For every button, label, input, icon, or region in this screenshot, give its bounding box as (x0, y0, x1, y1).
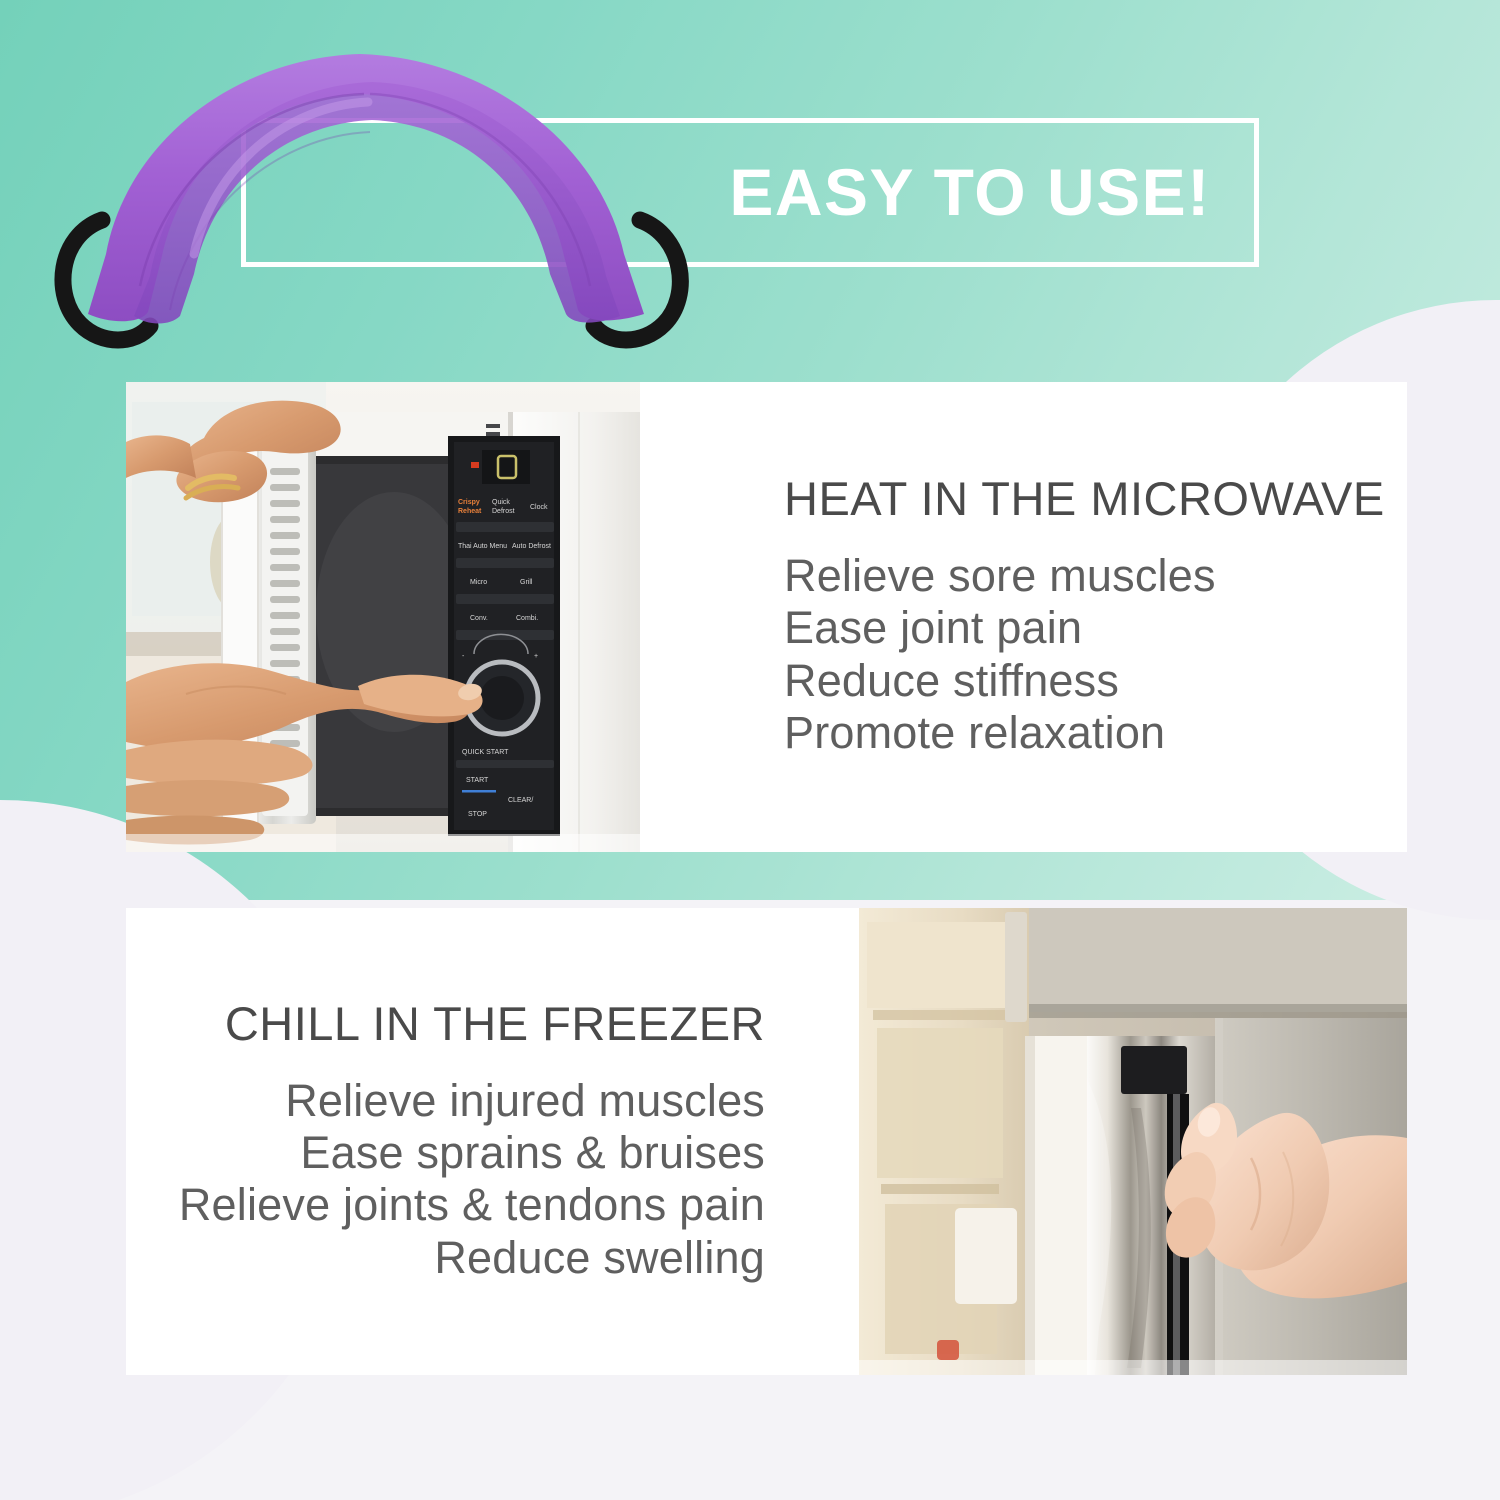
svg-text:Quick: Quick (492, 499, 510, 506)
bullet-item: Relieve sore muscles (784, 551, 1216, 601)
bullet-item: Promote relaxation (784, 708, 1216, 758)
bullet-item: Ease sprains & bruises (179, 1128, 765, 1178)
bullet-item: Reduce stiffness (784, 656, 1216, 706)
photo-microwave: Crispy Reheat Quick Defrost Clock Thai A… (126, 382, 640, 852)
hero-title: EASY TO USE! (700, 140, 1240, 245)
svg-text:Thai Auto Menu: Thai Auto Menu (458, 543, 507, 550)
product-image-neck-wrap (44, 24, 704, 354)
svg-text:+: + (534, 653, 538, 660)
section-card-chill: CHILL IN THE FREEZER Relieve injured mus… (126, 908, 1407, 1375)
section-title-chill: CHILL IN THE FREEZER (225, 998, 765, 1050)
svg-text:Grill: Grill (520, 579, 533, 586)
svg-text:START: START (466, 777, 489, 784)
section-card-heat: Crispy Reheat Quick Defrost Clock Thai A… (126, 382, 1407, 852)
svg-text:Micro: Micro (470, 579, 487, 586)
bullet-item: Reduce swelling (179, 1233, 765, 1283)
bullet-list-chill: Relieve injured muscles Ease sprains & b… (179, 1076, 765, 1286)
svg-text:Auto Defrost: Auto Defrost (512, 543, 551, 550)
svg-text:CLEAR/: CLEAR/ (508, 797, 533, 804)
section-title-heat: HEAT IN THE MICROWAVE (784, 473, 1385, 525)
svg-text:Defrost: Defrost (492, 508, 515, 515)
bullet-item: Ease joint pain (784, 603, 1216, 653)
svg-text:Reheat: Reheat (458, 508, 482, 515)
svg-text:QUICK START: QUICK START (462, 749, 509, 756)
bullet-item: Relieve injured muscles (179, 1076, 765, 1126)
svg-text:Crispy: Crispy (458, 499, 480, 506)
photo-freezer (859, 908, 1407, 1375)
bullet-list-heat: Relieve sore muscles Ease joint pain Red… (784, 551, 1216, 761)
infographic-canvas: EASY TO USE! (0, 0, 1500, 1500)
copy-chill: CHILL IN THE FREEZER Relieve injured mus… (126, 908, 859, 1375)
svg-text:Conv.: Conv. (470, 615, 488, 622)
copy-heat: HEAT IN THE MICROWAVE Relieve sore muscl… (640, 382, 1407, 852)
svg-text:STOP: STOP (468, 811, 487, 818)
svg-text:Clock: Clock (530, 504, 548, 511)
svg-text:Combi.: Combi. (516, 615, 538, 622)
bullet-item: Relieve joints & tendons pain (179, 1180, 765, 1230)
